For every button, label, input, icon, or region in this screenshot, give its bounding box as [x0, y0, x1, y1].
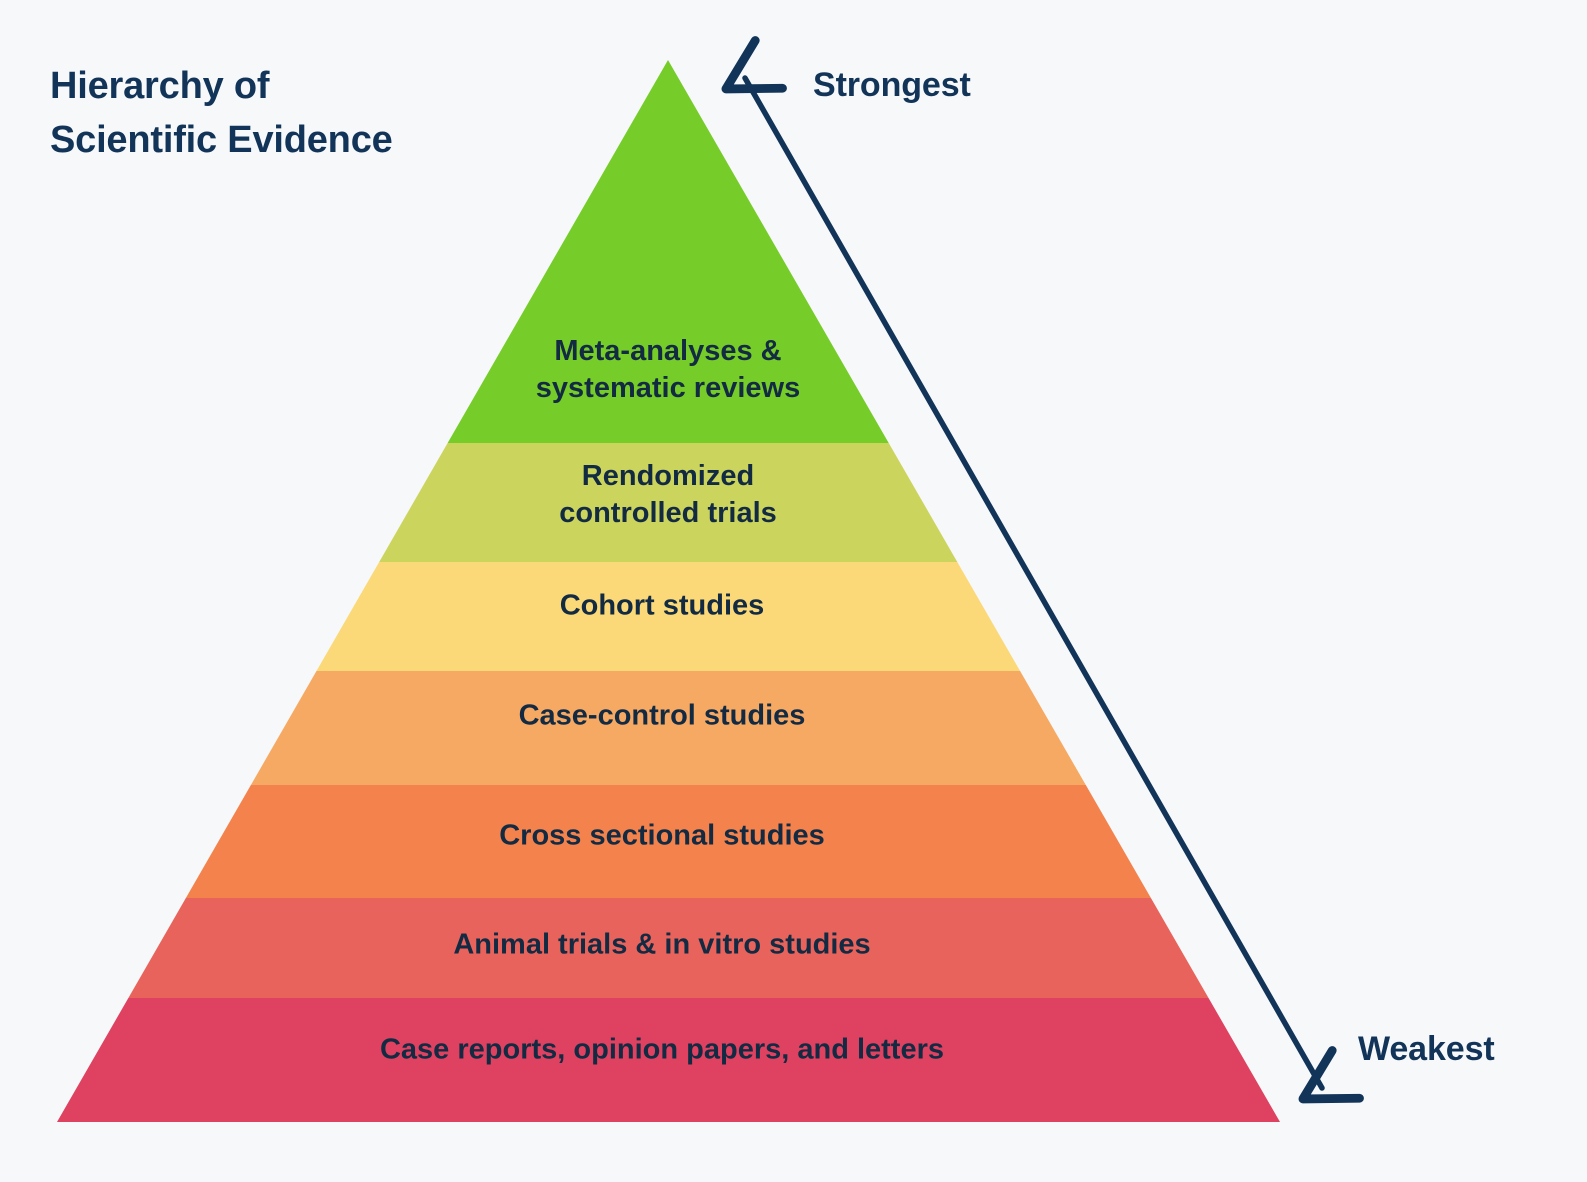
tier-band-4: [0, 671, 1587, 785]
tier-band-3: [0, 562, 1587, 671]
tier-band-2: [0, 443, 1587, 562]
page-title: Hierarchy of Scientific Evidence: [50, 60, 393, 168]
tier-band-5: [0, 785, 1587, 898]
tier-band-7: [0, 998, 1587, 1122]
strongest-label: Strongest: [813, 66, 971, 105]
diagram-canvas: Hierarchy of Scientific Evidence Stronge…: [0, 0, 1587, 1182]
tier-band-6: [0, 898, 1587, 998]
evidence-pyramid-graphic: [0, 0, 1587, 1182]
weakest-label: Weakest: [1358, 1030, 1495, 1069]
